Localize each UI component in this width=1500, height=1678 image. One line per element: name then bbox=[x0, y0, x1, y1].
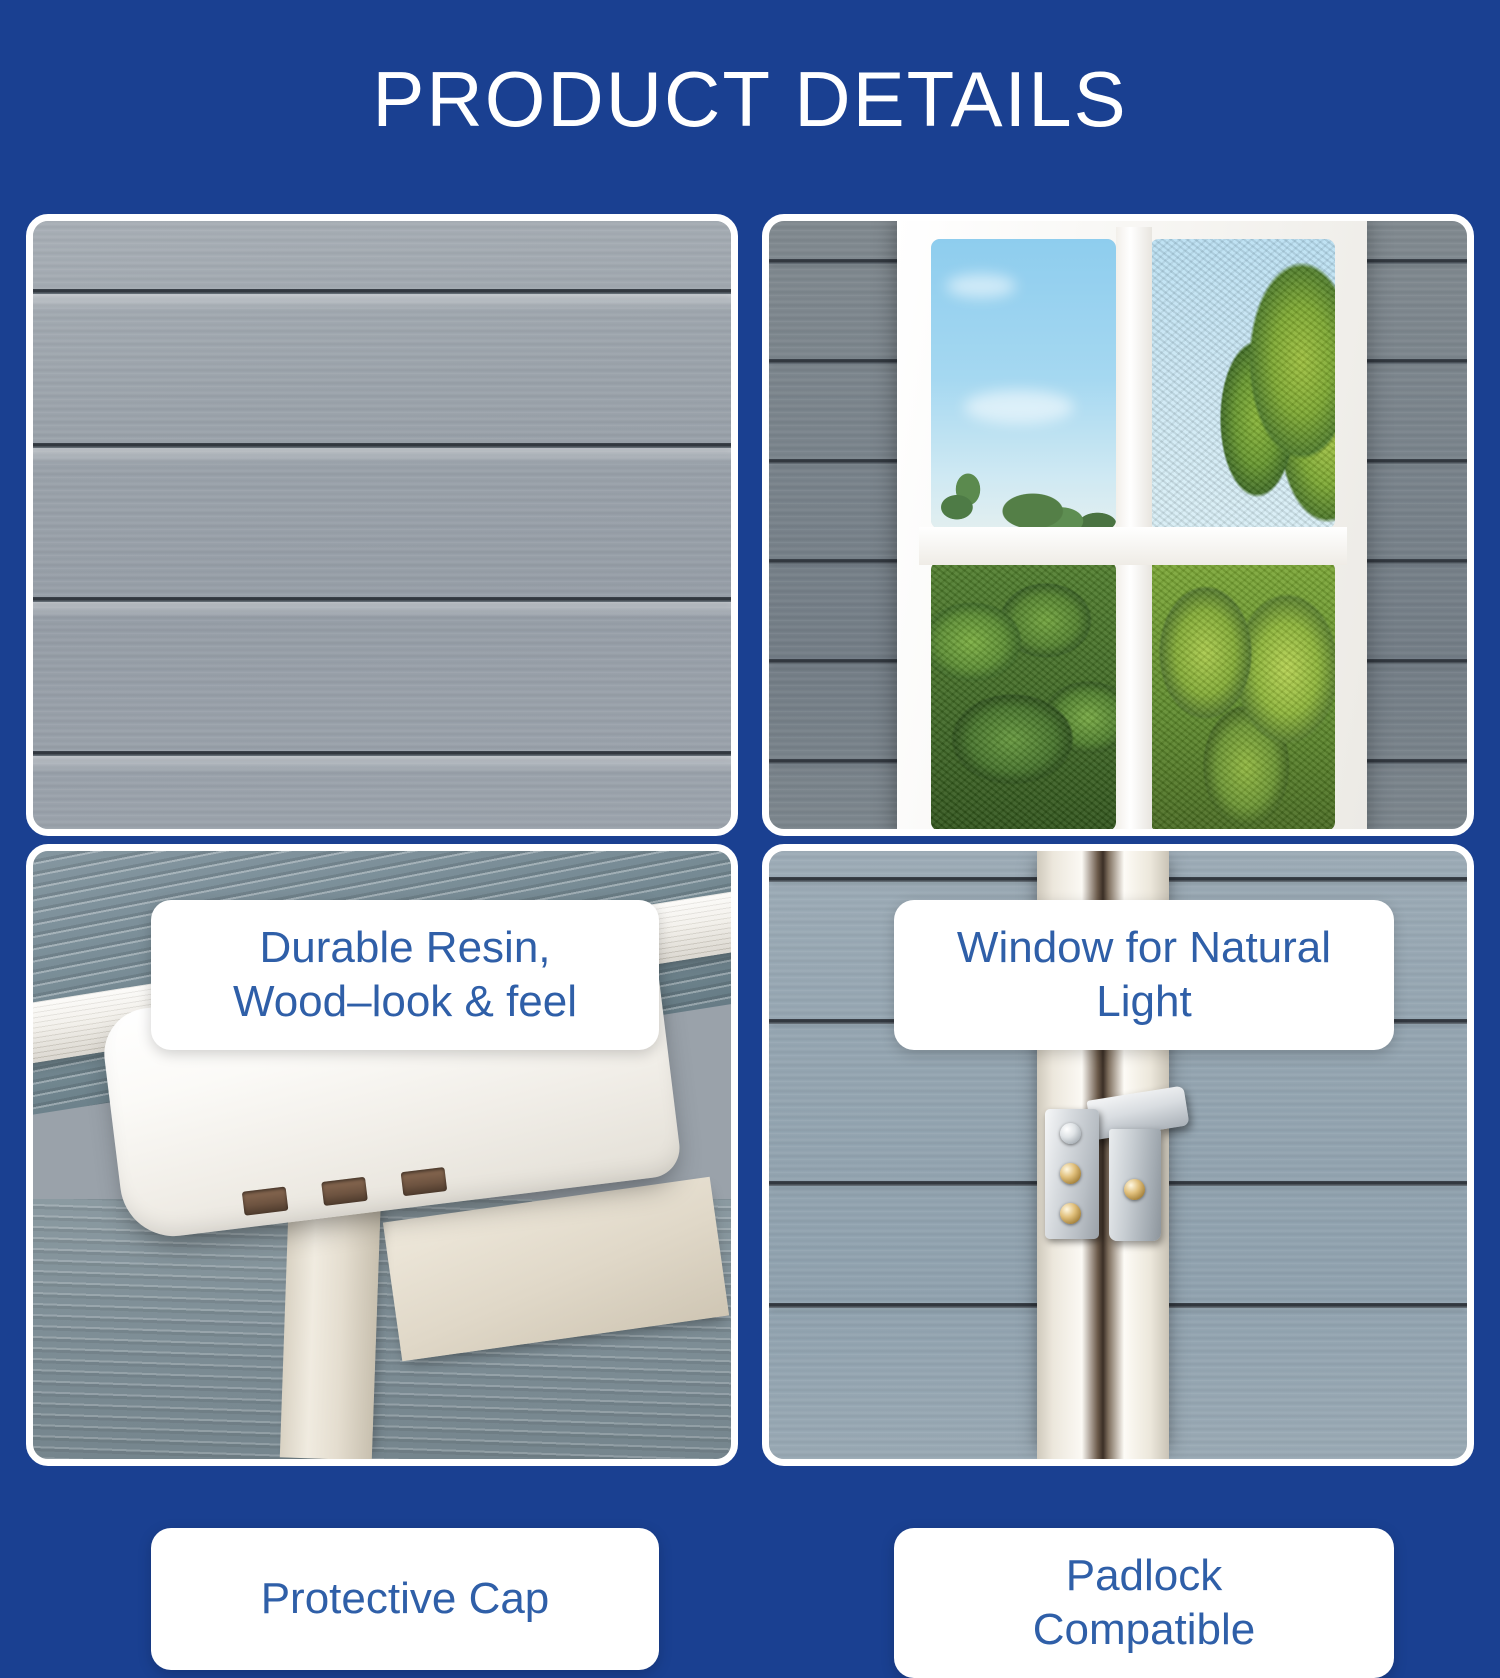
foliage-texture bbox=[1150, 561, 1335, 829]
foliage-texture bbox=[1150, 239, 1335, 529]
siding-plank-highlight bbox=[33, 602, 731, 618]
foliage-texture bbox=[931, 561, 1116, 829]
rivet bbox=[1060, 1203, 1081, 1224]
panel-window-image bbox=[769, 221, 1467, 829]
cloud bbox=[946, 274, 1016, 298]
label-padlock: Padlock Compatible bbox=[894, 1528, 1394, 1678]
vent-slot bbox=[242, 1187, 289, 1216]
vent-slot bbox=[321, 1177, 368, 1206]
panel-window bbox=[762, 214, 1474, 836]
window-pane-top-right bbox=[1150, 239, 1335, 529]
panel-durable-resin bbox=[26, 214, 738, 836]
distant-trees bbox=[931, 430, 1116, 529]
label-padlock-text: Padlock Compatible bbox=[912, 1549, 1376, 1656]
cloud bbox=[964, 390, 1074, 424]
siding-plank-highlight bbox=[33, 448, 731, 464]
label-protective-cap: Protective Cap bbox=[151, 1528, 659, 1670]
hasp-mounting-plate bbox=[1045, 1109, 1099, 1239]
label-window-text: Window for Natural Light bbox=[912, 921, 1376, 1028]
window-frame bbox=[897, 221, 1367, 829]
label-protective-cap-text: Protective Cap bbox=[169, 1572, 641, 1626]
rivet bbox=[1060, 1163, 1081, 1184]
siding-plank-highlight bbox=[33, 756, 731, 772]
label-durable-resin: Durable Resin, Wood–look & feel bbox=[151, 900, 659, 1050]
rivet bbox=[1124, 1179, 1145, 1200]
page-title: PRODUCT DETAILS bbox=[0, 60, 1500, 138]
product-details-grid: Durable Resin, Wood–look & feel Window f… bbox=[26, 214, 1474, 1466]
vent-slot bbox=[401, 1167, 448, 1196]
panel-durable-resin-image bbox=[33, 221, 731, 829]
resin-siding-texture bbox=[33, 221, 731, 829]
hasp-strike-plate bbox=[1109, 1129, 1161, 1241]
window-pane-bottom-left bbox=[931, 561, 1116, 829]
window-pane-top-left bbox=[931, 239, 1116, 529]
label-durable-resin-text: Durable Resin, Wood–look & feel bbox=[169, 921, 641, 1028]
label-window: Window for Natural Light bbox=[894, 900, 1394, 1050]
window-mullion-horizontal bbox=[919, 527, 1347, 565]
rivet bbox=[1060, 1123, 1081, 1144]
window-pane-bottom-right bbox=[1150, 561, 1335, 829]
siding-plank-highlight bbox=[33, 294, 731, 310]
wood-grain-overlay bbox=[33, 221, 731, 829]
